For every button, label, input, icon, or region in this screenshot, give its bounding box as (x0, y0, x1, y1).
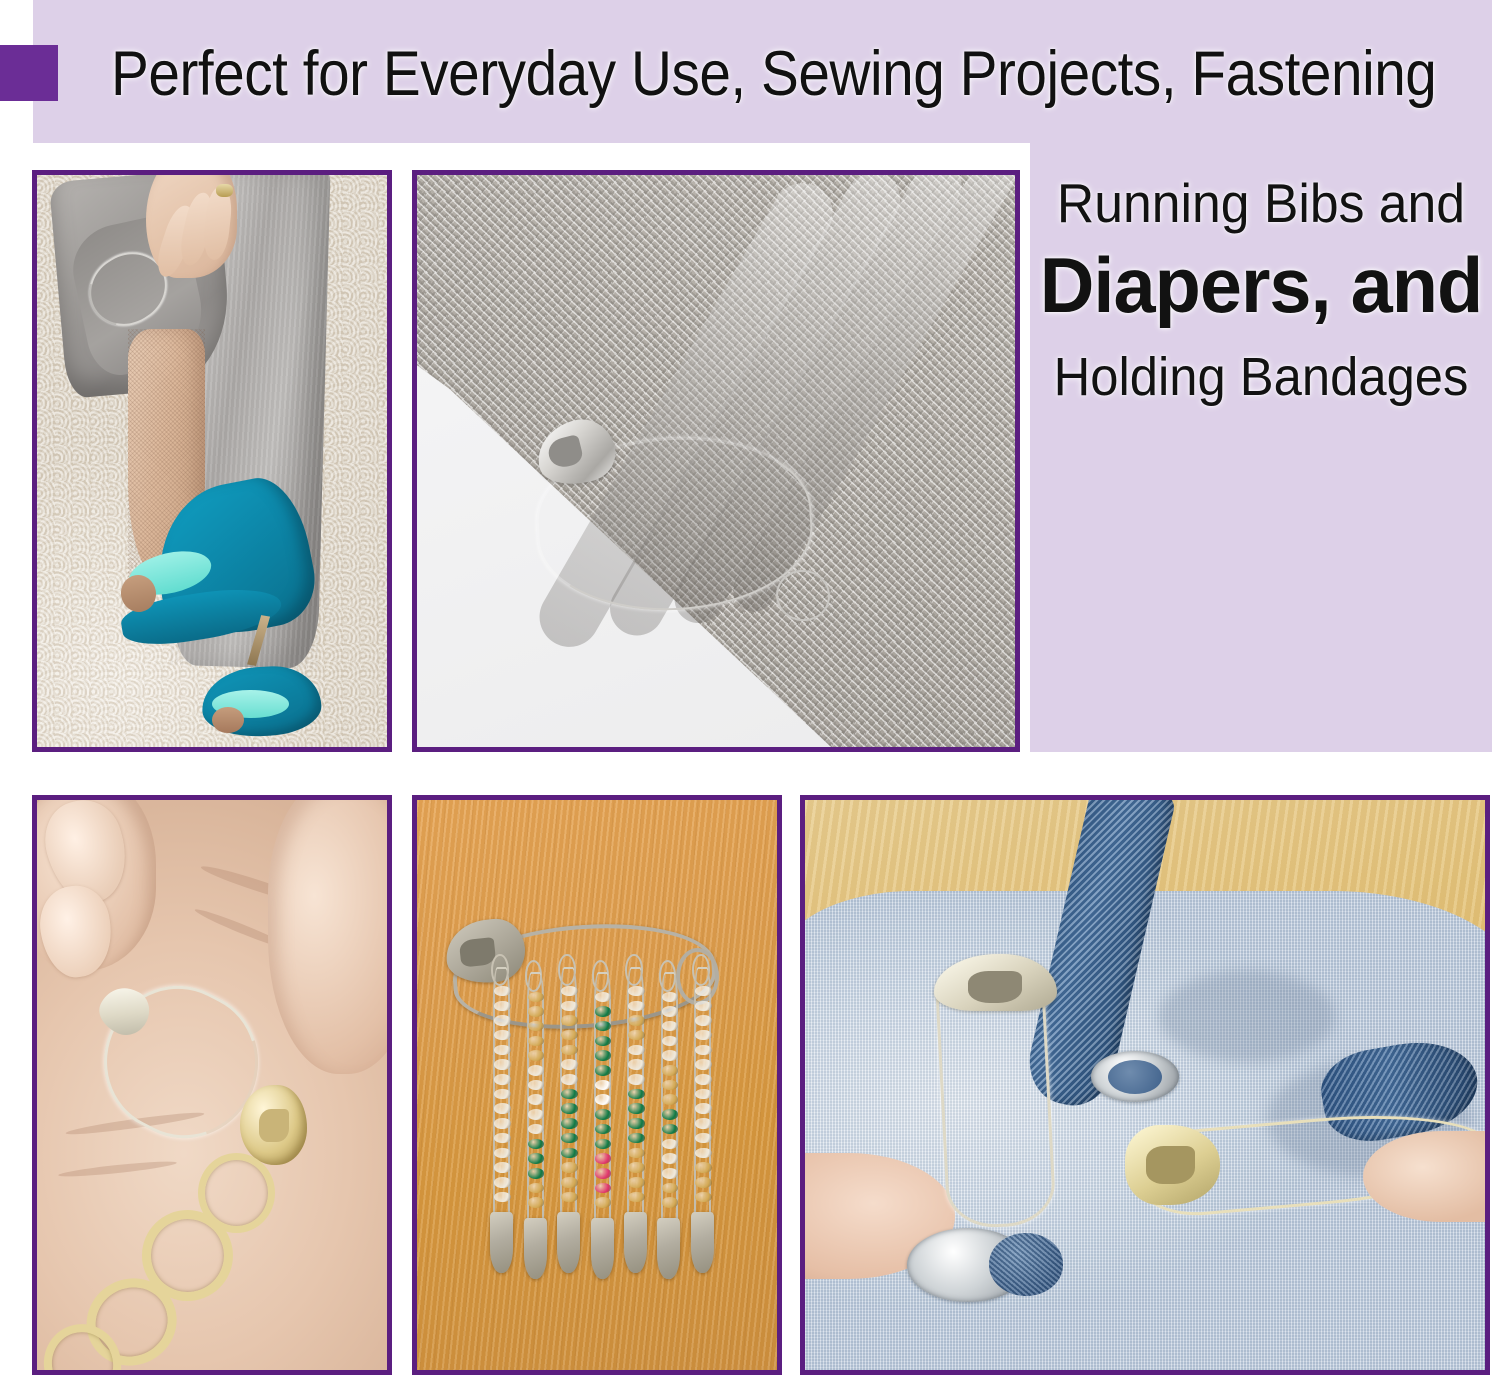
photo-hoodie-drawstring (800, 795, 1490, 1375)
side-text-panel: Running Bibs and Diapers, and Holding Ba… (1030, 143, 1492, 752)
side-text-line-1: Running Bibs and (1044, 171, 1478, 236)
beaded-safety-pin (656, 960, 683, 1279)
beaded-safety-pin (589, 960, 616, 1279)
side-text-line-2: Diapers, and (1037, 238, 1485, 333)
photo-chain-bracelet (32, 795, 392, 1375)
photo-knit-fabric (412, 170, 1020, 752)
photo-trouser-hem (32, 170, 392, 752)
headline-band: Perfect for Everyday Use, Sewing Project… (33, 0, 1492, 143)
beaded-safety-pin (556, 954, 583, 1273)
photo-beaded-pins (412, 795, 782, 1375)
clasp-icon (240, 1085, 307, 1165)
side-text-line-3: Holding Bandages (1044, 345, 1478, 410)
beaded-safety-pin (489, 954, 516, 1273)
beaded-safety-pin (690, 954, 717, 1273)
infographic-canvas: Perfect for Everyday Use, Sewing Project… (0, 0, 1500, 1380)
accent-square (0, 45, 58, 101)
beaded-safety-pin (522, 960, 549, 1279)
beaded-safety-pin (623, 954, 650, 1273)
page-title: Perfect for Everyday Use, Sewing Project… (111, 22, 1362, 126)
